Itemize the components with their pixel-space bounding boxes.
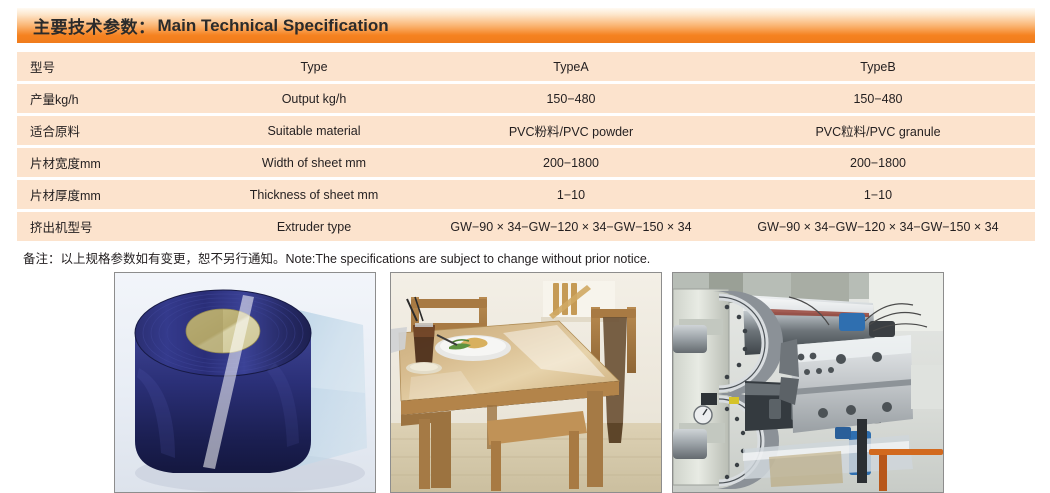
blue-pvc-roll-photo bbox=[114, 272, 376, 493]
cell-label-cn: 适合原料 bbox=[17, 121, 207, 140]
product-photo-strip bbox=[0, 272, 1050, 493]
spec-title-chinese: 主要技术参数： bbox=[33, 13, 156, 38]
table-row: 型号 Type TypeA TypeB bbox=[17, 52, 1035, 81]
cell-type-b: PVC粒料/PVC granule bbox=[721, 121, 1035, 140]
extrusion-machinery-photo bbox=[672, 272, 944, 493]
table-row: 适合原料 Suitable material PVC粉料/PVC powder … bbox=[17, 116, 1035, 145]
cell-type-a: 1−10 bbox=[421, 188, 721, 202]
cell-label-en: Suitable material bbox=[207, 124, 421, 138]
table-row: 片材厚度mm Thickness of sheet mm 1−10 1−10 bbox=[17, 180, 1035, 209]
cell-label-cn: 挤出机型号 bbox=[17, 217, 207, 236]
spec-sheet-page: 主要技术参数： Main Technical Specification 型号 … bbox=[0, 0, 1050, 493]
spec-title-english: Main Technical Specification bbox=[158, 16, 389, 36]
cell-type-b: 1−10 bbox=[721, 188, 1035, 202]
calender-machine-illustration bbox=[673, 273, 943, 492]
cell-type-b: 150−480 bbox=[721, 92, 1035, 106]
cell-type-a: TypeA bbox=[421, 60, 721, 74]
pvc-table-cover-photo bbox=[390, 272, 662, 493]
table-row: 挤出机型号 Extruder type GW−90 × 34−GW−120 × … bbox=[17, 212, 1035, 241]
cell-type-a: 150−480 bbox=[421, 92, 721, 106]
cell-type-a: PVC粉料/PVC powder bbox=[421, 121, 721, 140]
cell-label-cn: 片材宽度mm bbox=[17, 153, 207, 172]
table-row: 产量kg/h Output kg/h 150−480 150−480 bbox=[17, 84, 1035, 113]
table-row: 片材宽度mm Width of sheet mm 200−1800 200−18… bbox=[17, 148, 1035, 177]
cell-label-cn: 产量kg/h bbox=[17, 89, 207, 108]
dining-table-illustration bbox=[391, 273, 661, 492]
cell-type-b: TypeB bbox=[721, 60, 1035, 74]
cell-type-a: 200−1800 bbox=[421, 156, 721, 170]
spec-header-banner: 主要技术参数： Main Technical Specification bbox=[17, 8, 1035, 43]
cell-label-en: Output kg/h bbox=[207, 92, 421, 106]
cell-label-cn: 片材厚度mm bbox=[17, 185, 207, 204]
cell-label-en: Thickness of sheet mm bbox=[207, 188, 421, 202]
cell-label-cn: 型号 bbox=[17, 57, 207, 76]
cell-type-b: GW−90 × 34−GW−120 × 34−GW−150 × 34 bbox=[721, 220, 1035, 234]
cell-label-en: Width of sheet mm bbox=[207, 156, 421, 170]
cell-type-a: GW−90 × 34−GW−120 × 34−GW−150 × 34 bbox=[421, 220, 721, 234]
cell-type-b: 200−1800 bbox=[721, 156, 1035, 170]
specification-table: 型号 Type TypeA TypeB 产量kg/h Output kg/h 1… bbox=[17, 52, 1035, 244]
cell-label-en: Extruder type bbox=[207, 220, 421, 234]
blue-pvc-roll-illustration bbox=[115, 273, 375, 492]
cell-label-en: Type bbox=[207, 60, 421, 74]
specification-note: 备注：以上规格参数如有变更，恕不另行通知。Note:The specificat… bbox=[23, 248, 650, 267]
